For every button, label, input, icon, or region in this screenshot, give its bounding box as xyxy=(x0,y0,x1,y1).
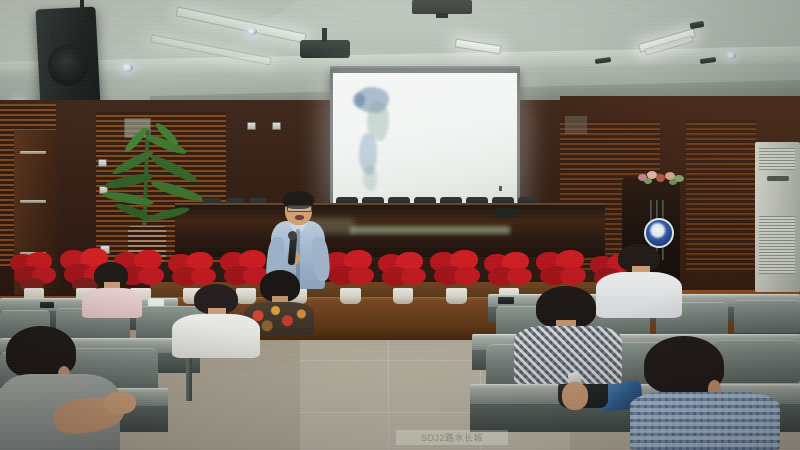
desk-leg xyxy=(186,355,192,401)
watermark-text: SDJ2路水长城 xyxy=(421,431,483,444)
flower xyxy=(669,179,677,185)
ceiling-fixture-stem xyxy=(322,28,327,42)
attendee-grey-shirt xyxy=(0,326,142,450)
mobile-phone[interactable] xyxy=(148,299,164,306)
light-switch[interactable] xyxy=(247,122,256,130)
poinsettia-plant xyxy=(376,252,430,304)
door-handle[interactable] xyxy=(20,151,46,154)
ceiling-speaker-tweeter xyxy=(50,32,62,42)
poinsettia-plant xyxy=(428,250,484,304)
flower xyxy=(644,178,652,184)
slide-graphic xyxy=(363,165,377,191)
door-handle[interactable] xyxy=(20,200,46,203)
ceiling-speaker-pole xyxy=(80,0,84,20)
attendee-hand xyxy=(562,382,588,410)
presenter-mouth xyxy=(295,215,304,220)
palm-frond xyxy=(148,205,191,223)
lectern-flower-arrangement xyxy=(636,170,688,186)
slide-mark xyxy=(499,186,502,191)
wood-slat-wall xyxy=(686,120,756,270)
air-conditioner[interactable] xyxy=(755,142,800,292)
attendee-pink-blouse xyxy=(82,262,144,314)
recessed-spotlight-icon xyxy=(247,28,257,35)
desk-power-socket[interactable] xyxy=(40,302,54,308)
ceiling-speaker-tweeter xyxy=(73,33,84,42)
ceiling-fixture-icon xyxy=(300,40,350,58)
desk-power-socket[interactable] xyxy=(498,297,514,304)
table-reflection xyxy=(350,226,510,234)
attendee-white-shirt-left xyxy=(172,284,260,356)
projection-screen xyxy=(330,70,520,206)
projector-mount xyxy=(436,13,448,18)
attendee-torso xyxy=(172,314,260,358)
poinsettia-plant xyxy=(8,252,60,304)
potted-palm xyxy=(100,122,212,262)
attendee-hand xyxy=(104,392,136,414)
attendee-torso xyxy=(82,288,142,318)
watermark: SDJ2路水长城 xyxy=(396,430,508,445)
microphone-head-icon xyxy=(288,231,297,240)
projection-screen-surface xyxy=(333,73,517,203)
slide-graphic xyxy=(353,93,365,107)
attendee-torso xyxy=(630,392,780,450)
ac-vent-top xyxy=(759,148,795,170)
presenter-glasses xyxy=(287,205,312,212)
auditorium-seat[interactable] xyxy=(734,300,800,333)
ac-vent-bottom xyxy=(759,216,795,274)
attendee-blue-check-phone xyxy=(630,336,800,450)
flower xyxy=(656,174,665,182)
wall-plaque xyxy=(565,116,587,134)
auditorium-photo: SDJ2路水长城 xyxy=(0,0,800,450)
light-switch[interactable] xyxy=(272,122,281,130)
ac-display xyxy=(767,176,789,181)
recessed-spotlight-icon xyxy=(122,64,133,72)
table-microphone xyxy=(494,208,520,218)
attendee-checkered-shirt xyxy=(514,286,624,380)
ceiling-projector-icon xyxy=(412,0,472,14)
recessed-spotlight-icon xyxy=(726,52,736,59)
